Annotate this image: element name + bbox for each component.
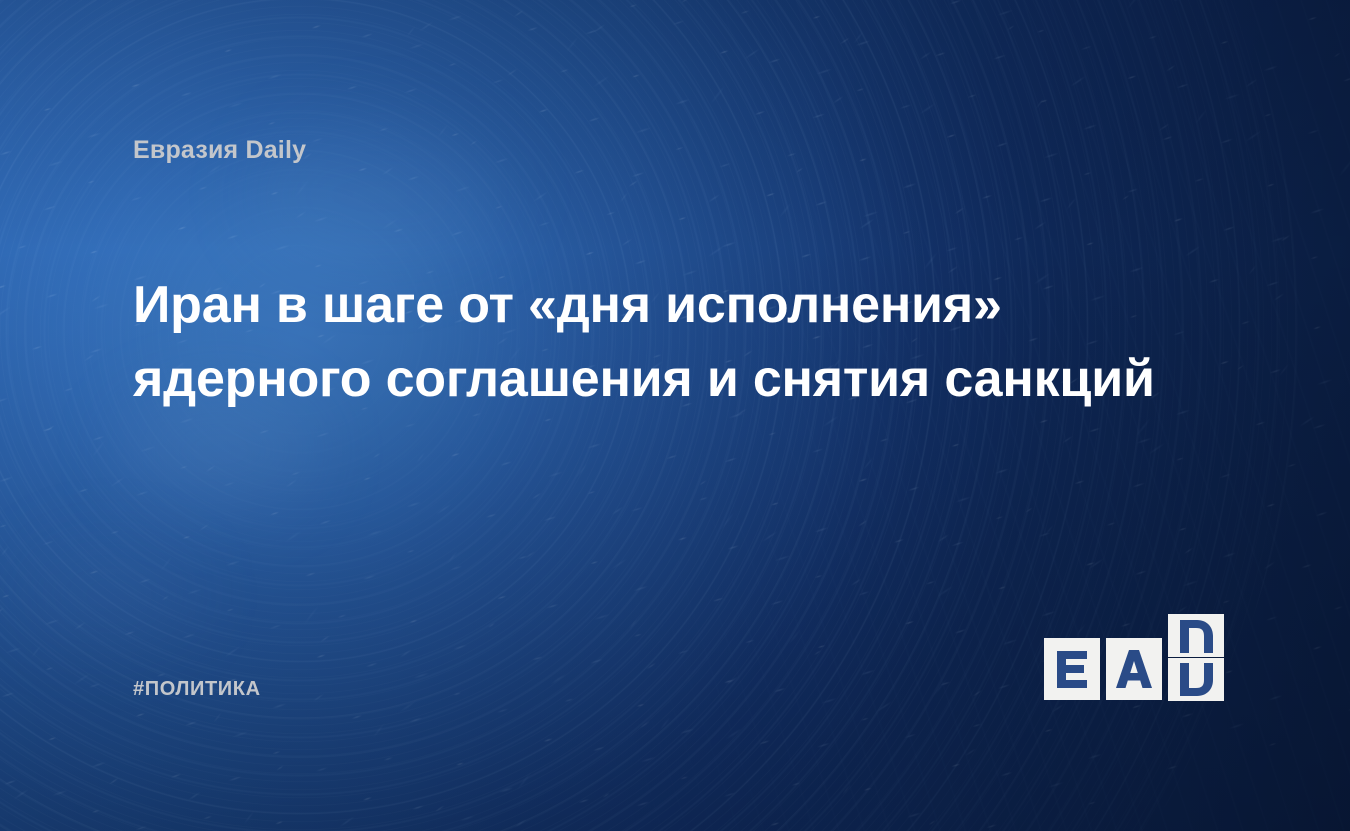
news-card: Евразия Daily Иран в шаге от «дня исполн… [0, 0, 1350, 831]
logo-tile-d-top [1168, 614, 1224, 657]
ead-logo [1044, 638, 1224, 701]
headline-line-1: Иран в шаге от «дня исполнения» [133, 268, 1223, 342]
headline-line-2: ядерного соглашения и снятия санкций [133, 342, 1223, 416]
letter-a-glyph [1115, 649, 1153, 689]
brand-name: Евразия Daily [133, 136, 306, 165]
headline: Иран в шаге от «дня исполнения» ядерного… [133, 268, 1223, 417]
logo-tile-d-stack [1168, 614, 1224, 701]
letter-d-lower-half-glyph [1177, 663, 1215, 697]
card-content: Евразия Daily Иран в шаге от «дня исполн… [0, 0, 1350, 831]
category-tag[interactable]: #ПОЛИТИКА [133, 678, 261, 701]
logo-tile-e [1044, 638, 1100, 700]
logo-tile-a [1106, 638, 1162, 700]
letter-e-glyph [1055, 649, 1089, 689]
logo-tile-d-bottom [1168, 658, 1224, 701]
letter-d-upper-half-glyph [1177, 619, 1215, 653]
